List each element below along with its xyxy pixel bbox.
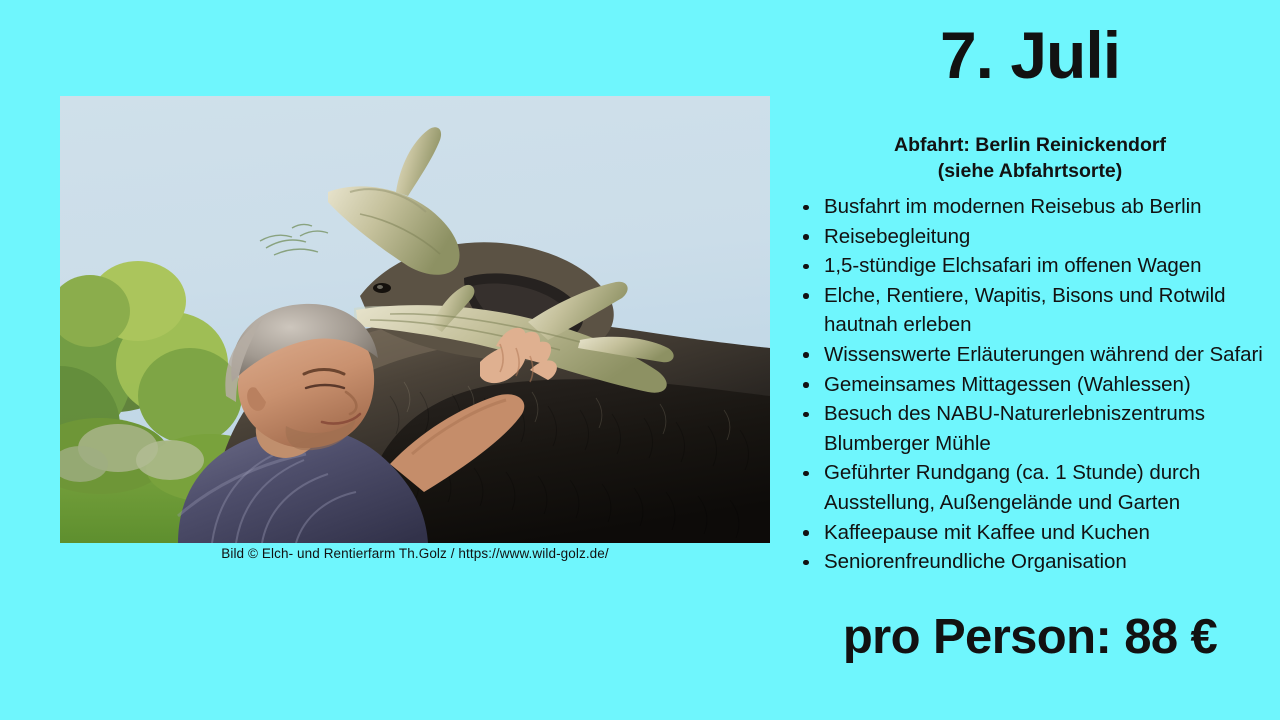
list-item: Seniorenfreundliche Organisation	[800, 547, 1276, 577]
photo-credit-caption: Bild © Elch- und Rentierfarm Th.Golz / h…	[60, 546, 770, 561]
bullet-icon	[803, 412, 809, 418]
feature-list: Busfahrt im modernen Reisebus ab Berlin …	[800, 192, 1276, 577]
bullet-icon	[803, 382, 809, 388]
photo-illustration	[60, 96, 770, 543]
bullet-icon	[803, 352, 809, 358]
list-item-label: Kaffeepause mit Kaffee und Kuchen	[824, 521, 1150, 544]
list-item-label: Besuch des NABU-Naturerlebniszentrums Bl…	[824, 402, 1205, 455]
list-item: Reisebegleitung	[800, 222, 1276, 252]
list-item: Elche, Rentiere, Wapitis, Bisons und Rot…	[800, 281, 1276, 340]
list-item: Wissenswerte Erläuterungen während der S…	[800, 340, 1276, 370]
list-item-label: Geführter Rundgang (ca. 1 Stunde) durch …	[824, 461, 1200, 514]
list-item: Besuch des NABU-Naturerlebniszentrums Bl…	[800, 399, 1276, 458]
bullet-icon	[803, 205, 809, 211]
list-item-label: Reisebegleitung	[824, 225, 970, 248]
list-item: Busfahrt im modernen Reisebus ab Berlin	[800, 192, 1276, 222]
content-column: 7. Juli Abfahrt: Berlin Reinickendorf (s…	[780, 0, 1280, 720]
list-item-label: Gemeinsames Mittagessen (Wahlessen)	[824, 373, 1191, 396]
list-item-label: Elche, Rentiere, Wapitis, Bisons und Rot…	[824, 284, 1226, 337]
bullet-icon	[803, 530, 809, 536]
list-item-label: Busfahrt im modernen Reisebus ab Berlin	[824, 195, 1202, 218]
list-item: Geführter Rundgang (ca. 1 Stunde) durch …	[800, 458, 1276, 517]
moose-photo	[60, 96, 770, 543]
departure-note: Abfahrt: Berlin Reinickendorf (siehe Abf…	[790, 133, 1270, 185]
list-item: Kaffeepause mit Kaffee und Kuchen	[800, 518, 1276, 548]
bullet-icon	[803, 471, 809, 477]
list-item-label: Wissenswerte Erläuterungen während der S…	[824, 343, 1263, 366]
bullet-icon	[803, 234, 809, 240]
departure-location: Abfahrt: Berlin Reinickendorf	[790, 133, 1270, 159]
list-item: Gemeinsames Mittagessen (Wahlessen)	[800, 370, 1276, 400]
departure-reference: (siehe Abfahrtsorte)	[790, 159, 1270, 185]
page-title: 7. Juli	[780, 22, 1280, 88]
price-label: pro Person: 88 €	[780, 610, 1280, 665]
bullet-icon	[803, 560, 809, 566]
bullet-icon	[803, 264, 809, 270]
list-item: 1,5-stündige Elchsafari im offenen Wagen	[800, 251, 1276, 281]
list-item-label: Seniorenfreundliche Organisation	[824, 550, 1127, 573]
photo-block: Bild © Elch- und Rentierfarm Th.Golz / h…	[60, 96, 770, 543]
bullet-icon	[803, 293, 809, 299]
list-item-label: 1,5-stündige Elchsafari im offenen Wagen	[824, 254, 1201, 277]
